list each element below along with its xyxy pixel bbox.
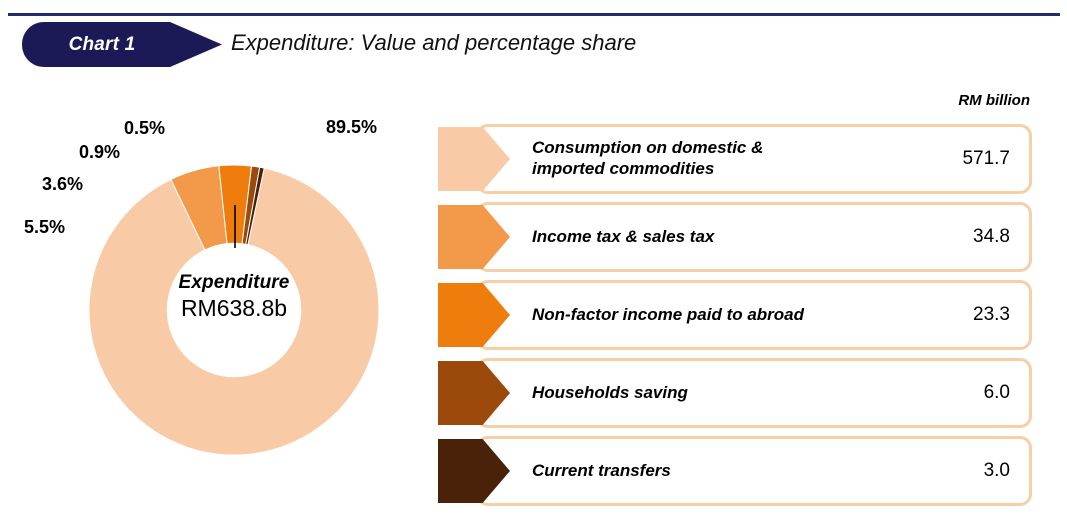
donut-chart-svg xyxy=(44,120,424,500)
legend-unit-header: RM billion xyxy=(958,92,1030,109)
legend-row-label: Income tax & sales tax xyxy=(532,202,912,272)
legend-row-value: 34.8 xyxy=(973,202,1010,272)
chart-number-badge: Chart 1 xyxy=(22,22,222,67)
donut-percent-label: 0.9% xyxy=(79,142,120,163)
legend-row[interactable]: Current transfers3.0 xyxy=(438,436,1032,506)
legend-row-label: Current transfers xyxy=(532,436,912,506)
legend-row-value: 3.0 xyxy=(984,436,1010,506)
donut-percent-label: 89.5% xyxy=(326,117,377,138)
header-divider-rule xyxy=(8,13,1060,16)
donut-percent-label: 0.5% xyxy=(124,118,165,139)
legend-row[interactable]: Consumption on domestic &imported commod… xyxy=(438,124,1032,194)
legend-panel: Consumption on domestic &imported commod… xyxy=(438,124,1032,514)
donut-percent-label: 3.6% xyxy=(42,174,83,195)
legend-row-value: 571.7 xyxy=(962,124,1010,194)
chart-number-badge-label: Chart 1 xyxy=(22,22,182,67)
legend-row[interactable]: Income tax & sales tax34.8 xyxy=(438,202,1032,272)
legend-row[interactable]: Non-factor income paid to abroad23.3 xyxy=(438,280,1032,350)
donut-chart: Expenditure RM638.8b 89.5%5.5%3.6%0.9%0.… xyxy=(44,120,424,500)
legend-row[interactable]: Households saving6.0 xyxy=(438,358,1032,428)
legend-row-label: Households saving xyxy=(532,358,912,428)
legend-row-label: Consumption on domestic &imported commod… xyxy=(532,124,912,194)
donut-slice-group xyxy=(89,165,379,455)
page-title: Expenditure: Value and percentage share xyxy=(231,30,636,56)
donut-percent-label: 5.5% xyxy=(24,217,65,238)
legend-row-value: 6.0 xyxy=(984,358,1010,428)
legend-row-label: Non-factor income paid to abroad xyxy=(532,280,912,350)
legend-row-value: 23.3 xyxy=(973,280,1010,350)
